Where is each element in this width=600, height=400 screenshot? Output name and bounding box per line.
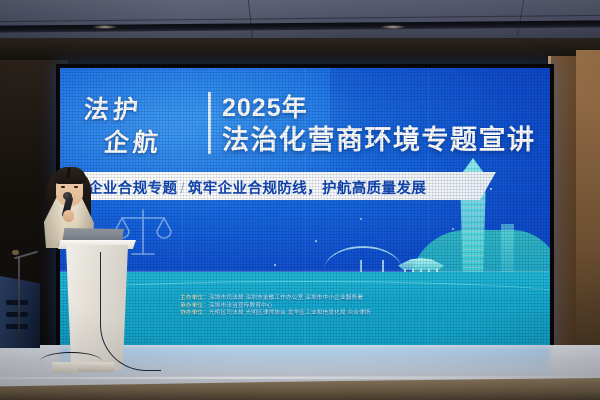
speaker-hand: [63, 210, 74, 222]
speaker-eye: [74, 186, 78, 188]
floor-power-box: [52, 362, 78, 373]
microphone-stand-knob: [12, 250, 19, 255]
ceiling-lamp: [92, 25, 118, 29]
speaker-eye: [61, 186, 65, 188]
floor-cable: [100, 252, 161, 371]
speaker-grille-slot: [6, 324, 28, 329]
ceiling-lamp: [380, 25, 406, 29]
right-wall-wood-panel: [576, 50, 600, 380]
microphone-head: [63, 192, 72, 200]
speaker-grille-slot: [6, 312, 28, 317]
microphone-stand: [18, 256, 20, 342]
speaker-grille-slot: [6, 300, 28, 305]
screenshot-root: 法护 企航 2025年 法治化营商环境专题宣讲 企业合规专题/筑牢企业合规防线，…: [0, 0, 600, 400]
